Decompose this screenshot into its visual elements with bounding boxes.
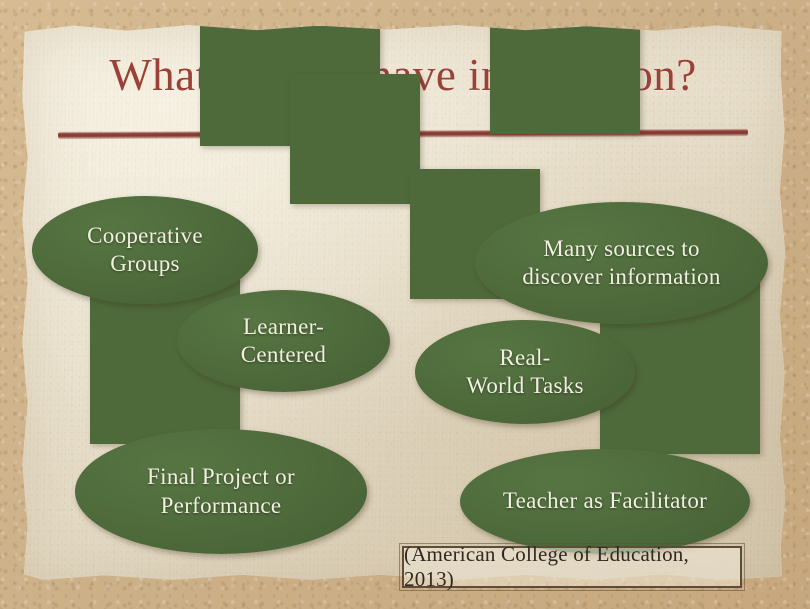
bubble-line-1: Cooperative xyxy=(87,222,203,250)
bubble-line-1: Teacher as Facilitator xyxy=(503,487,707,515)
bubble-real-world-tasks[interactable]: Real- World Tasks xyxy=(415,320,635,424)
bubble-line-2: Centered xyxy=(241,341,326,369)
bubble-cooperative-groups[interactable]: Cooperative Groups xyxy=(32,196,258,304)
bubble-many-sources[interactable]: Many sources to discover information xyxy=(475,202,768,324)
bubble-text-block: Learner- Centered xyxy=(241,313,326,369)
paper-sheet: What do they have in common? xyxy=(20,24,786,582)
bubble-text-block: Many sources to discover information xyxy=(522,235,720,291)
bubble-text-block: Real- World Tasks xyxy=(466,344,584,400)
bubble-learner-centered[interactable]: Learner- Centered xyxy=(177,290,390,392)
citation-text: (American College of Education, 2013) xyxy=(404,542,740,592)
bubble-line-2: discover information xyxy=(522,263,720,291)
bubble-text-block: Cooperative Groups xyxy=(87,222,203,278)
bubble-line-2: World Tasks xyxy=(466,372,584,400)
bubble-line-2: Performance xyxy=(147,492,295,520)
bubble-final-project[interactable]: Final Project or Performance xyxy=(75,429,367,554)
bubble-tail-many-sources xyxy=(490,24,640,134)
citation-box: (American College of Education, 2013) xyxy=(402,546,742,588)
bubble-line-2: Groups xyxy=(87,250,203,278)
bubble-line-1: Many sources to xyxy=(522,235,720,263)
bubble-line-1: Learner- xyxy=(241,313,326,341)
bubble-teacher-as-facilitator[interactable]: Teacher as Facilitator xyxy=(460,449,750,554)
bubble-text-block: Final Project or Performance xyxy=(147,463,295,519)
bubble-line-1: Real- xyxy=(466,344,584,372)
bubble-text-block: Teacher as Facilitator xyxy=(503,487,707,515)
bubble-line-1: Final Project or xyxy=(147,463,295,491)
slide-canvas: What do they have in common? xyxy=(0,0,810,609)
bubble-tail-learner-centered xyxy=(290,74,420,204)
